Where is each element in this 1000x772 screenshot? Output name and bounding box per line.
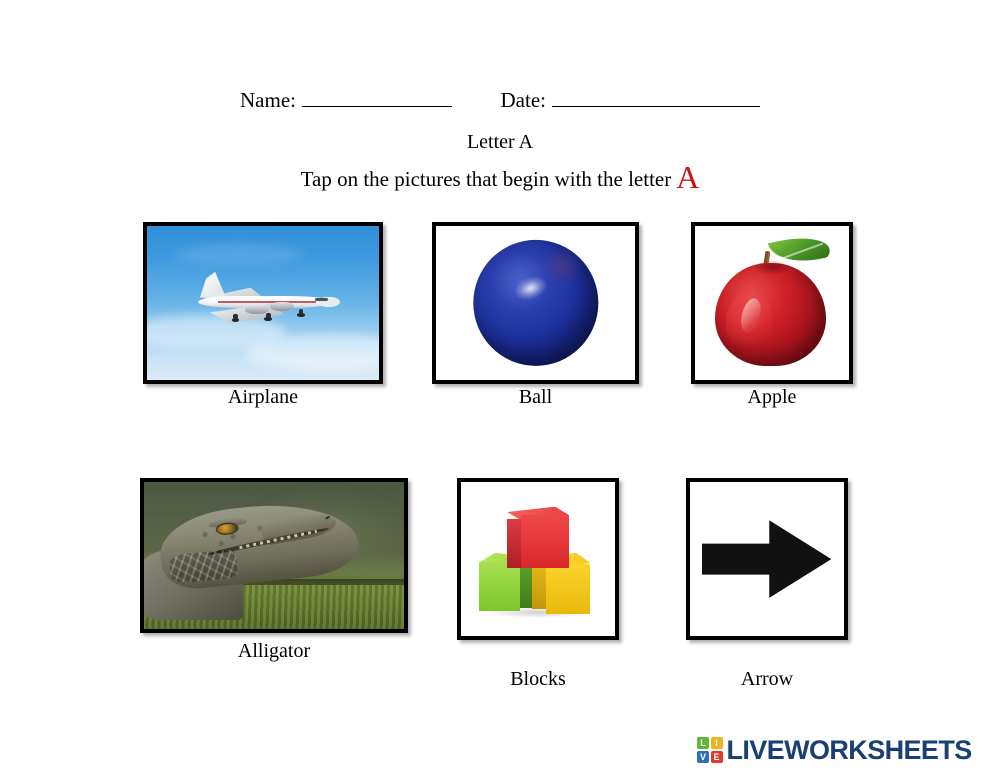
airplane-shape (189, 277, 337, 326)
card-label-arrow: Arrow (686, 668, 848, 691)
instruction-letter-a: A (676, 159, 699, 195)
name-date-row: Name: Date: (0, 88, 1000, 113)
ball-photo (436, 226, 635, 380)
name-label: Name: (240, 88, 296, 113)
picture-card-arrow[interactable] (686, 478, 848, 640)
name-field-group: Name: (240, 88, 452, 113)
date-label: Date: (501, 88, 546, 113)
airplane-engine (270, 302, 294, 311)
card-label-airplane: Airplane (143, 386, 383, 409)
instruction-text: Tap on the pictures that begin with the … (301, 167, 672, 191)
apple-photo (695, 226, 849, 380)
ball-sphere (473, 240, 598, 366)
alligator-scales (168, 548, 238, 584)
right-arrow-icon (702, 516, 831, 602)
picture-card-ball[interactable] (432, 222, 639, 384)
airplane-livery-stripe (218, 301, 316, 303)
card-label-apple: Apple (691, 386, 853, 409)
instruction-line: Tap on the pictures that begin with the … (0, 166, 1000, 192)
block-front-face (546, 564, 590, 615)
airplane-photo (147, 226, 379, 380)
picture-card-alligator[interactable] (140, 478, 408, 633)
picture-card-apple[interactable] (691, 222, 853, 384)
logo-tile-grid: L I V E (697, 737, 723, 763)
date-input-blank[interactable] (552, 91, 760, 107)
page-title: Letter A (0, 131, 1000, 154)
block-front-face (521, 515, 569, 568)
arrow-graphic (690, 482, 844, 636)
card-frame (432, 222, 639, 384)
card-frame (691, 222, 853, 384)
red-block (507, 507, 569, 569)
apple-body (715, 263, 826, 366)
cloud-wisp (244, 334, 383, 371)
landing-gear-wheel (232, 318, 239, 321)
ball-highlight (511, 273, 549, 304)
card-label-blocks: Blocks (457, 668, 619, 691)
logo-tile-i: I (711, 737, 723, 749)
date-field-group: Date: (501, 88, 760, 113)
name-input-blank[interactable] (302, 91, 452, 107)
picture-card-blocks[interactable] (457, 478, 619, 640)
leaf-vein (777, 242, 824, 260)
cloud-wisp (175, 244, 303, 266)
logo-tile-v: V (697, 751, 709, 763)
card-label-ball: Ball (432, 386, 639, 409)
alligator-nostril (324, 516, 330, 521)
alligator-photo (144, 482, 404, 629)
landing-gear-wheel (297, 313, 304, 316)
worksheet-page: Name: Date: Letter A Tap on the pictures… (0, 0, 1000, 772)
card-frame (143, 222, 383, 384)
blocks-photo (461, 482, 615, 636)
ball-rim-tint (541, 247, 584, 285)
airline-logo-mark (201, 274, 203, 279)
landing-gear-wheel (264, 317, 271, 320)
logo-tile-l: L (697, 737, 709, 749)
airplane-cockpit-window (315, 298, 328, 301)
airplane-tail-fin (198, 272, 226, 298)
block-front-face (479, 562, 520, 611)
logo-wordmark: LIVEWORKSHEETS (727, 737, 972, 764)
card-label-alligator: Alligator (140, 640, 408, 663)
liveworksheets-logo[interactable]: L I V E LIVEWORKSHEETS (697, 735, 972, 765)
card-frame (686, 478, 848, 640)
card-frame (457, 478, 619, 640)
card-frame (140, 478, 408, 633)
picture-card-airplane[interactable] (143, 222, 383, 384)
logo-tile-e: E (711, 751, 723, 763)
